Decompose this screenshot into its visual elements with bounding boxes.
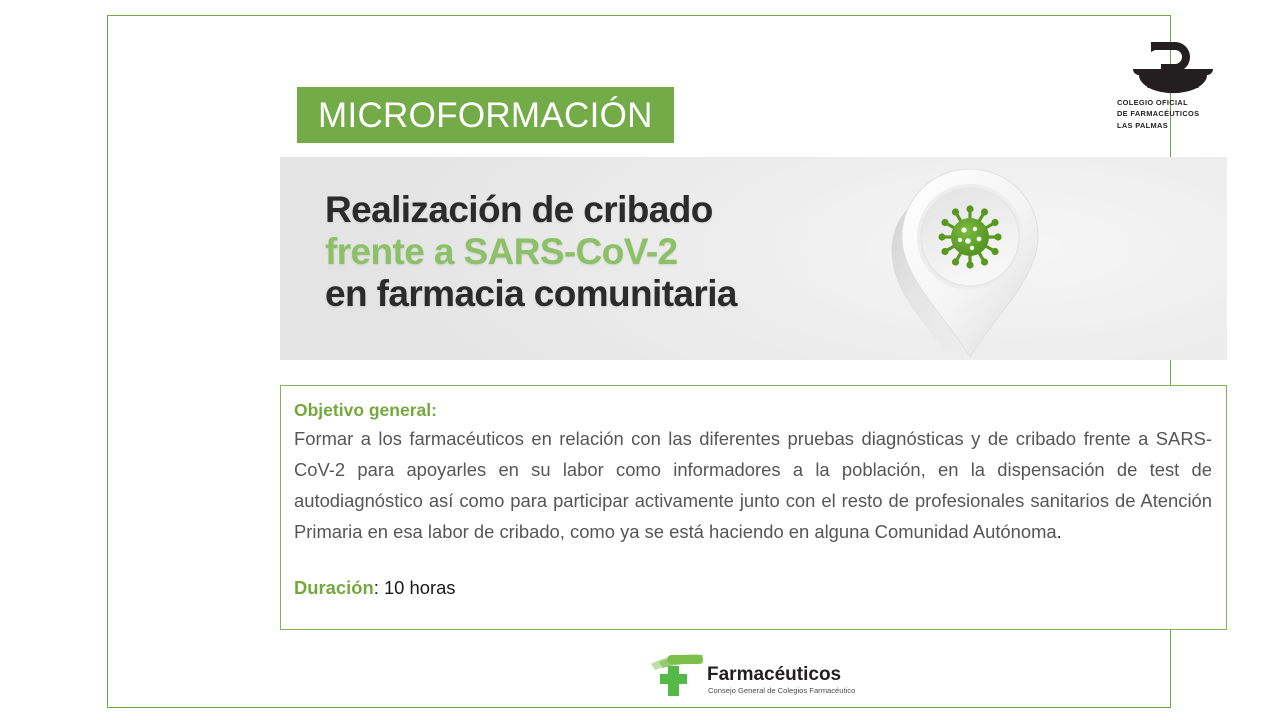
banner-line-1: Realización de cribado <box>325 189 737 231</box>
objective-text-tail: . <box>1057 521 1062 542</box>
svg-text:Farmacéuticos: Farmacéuticos <box>707 664 841 685</box>
course-description-box: Objetivo general: Formar a los farmacéut… <box>280 385 1227 630</box>
institution-line-2: DE FARMACÉUTICOS <box>1117 108 1229 119</box>
duration-line: Duración: 10 horas <box>294 575 1212 602</box>
footer-logo: Farmacéuticos Consejo General de Colegio… <box>645 652 855 702</box>
bowl-of-hygieia-icon <box>1117 36 1229 94</box>
banner-line-3: en farmacia comunitaria <box>325 273 737 315</box>
duration-label: Duración <box>294 577 374 598</box>
institution-logo: COLEGIO OFICIAL DE FARMACÉUTICOS LAS PAL… <box>1117 36 1229 136</box>
objective-paragraph: Formar a los farmacéuticos en relación c… <box>294 424 1212 547</box>
institution-line-3: LAS PALMAS <box>1117 120 1229 131</box>
pharmacy-cross-icon: Farmacéuticos Consejo General de Colegio… <box>645 652 855 702</box>
page-title: MICROFORMACIÓN <box>318 98 653 133</box>
slide-frame: COLEGIO OFICIAL DE FARMACÉUTICOS LAS PAL… <box>107 15 1171 708</box>
institution-line-1: COLEGIO OFICIAL <box>1117 97 1229 108</box>
duration-value: : 10 horas <box>374 577 456 598</box>
banner-title: Realización de cribado frente a SARS-CoV… <box>325 189 737 314</box>
objective-text: Formar a los farmacéuticos en relación c… <box>294 428 1212 541</box>
microformacion-title-tag: MICROFORMACIÓN <box>297 87 674 143</box>
objective-heading: Objetivo general: <box>294 398 1212 423</box>
map-pin-with-coronavirus-icon <box>870 157 1070 360</box>
svg-text:Consejo General de Colegios Fa: Consejo General de Colegios Farmacéutico… <box>708 686 855 695</box>
banner-line-2: frente a SARS-CoV-2 <box>325 231 737 273</box>
institution-logo-text: COLEGIO OFICIAL DE FARMACÉUTICOS LAS PAL… <box>1117 97 1229 131</box>
course-banner: Realización de cribado frente a SARS-CoV… <box>280 157 1227 360</box>
